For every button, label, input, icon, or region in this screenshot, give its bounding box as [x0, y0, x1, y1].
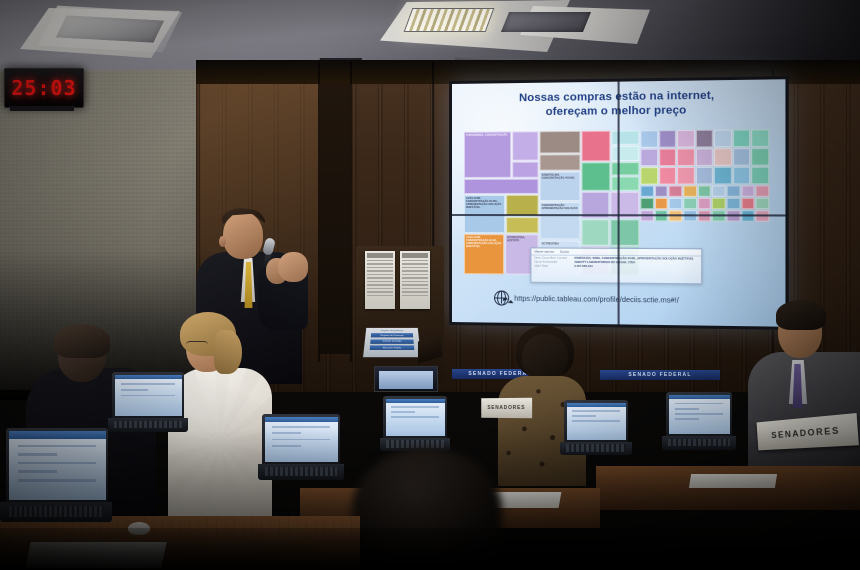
laptop-keyboard[interactable] [258, 464, 344, 480]
tooltip-keep-only[interactable]: Manter apenas [534, 249, 554, 253]
globe-meridian [497, 290, 506, 305]
nameplate-label: SENADORES [487, 405, 525, 411]
laptop-screen[interactable] [115, 375, 182, 416]
treemap-cell[interactable] [640, 149, 657, 166]
treemap-cell[interactable] [696, 148, 714, 166]
laptop-lid [666, 392, 732, 436]
treemap-cell[interactable] [581, 219, 609, 246]
treemap-cell[interactable]: ACICLOVIR, CONCENTRAÇÃO 40 ML, APRESENTA… [464, 234, 504, 275]
lectern-screen-title: Registro de presença [369, 330, 416, 332]
treemap-cell[interactable] [655, 186, 668, 197]
treemap-cell[interactable]: FUROSEMIDA, CONCENTRAÇÃO [464, 131, 511, 177]
laptop-lid [564, 400, 628, 442]
laptop-4[interactable] [380, 396, 450, 454]
treemap-cell[interactable] [659, 149, 676, 167]
lectern-documents [365, 251, 430, 309]
treemap-cell[interactable] [733, 148, 751, 166]
tooltip-exclude[interactable]: Excluir [560, 250, 569, 254]
treemap-cell[interactable] [610, 219, 639, 246]
fluorescent-fixture-icon [404, 8, 495, 32]
glasses-icon [186, 341, 208, 349]
treemap-cell[interactable] [741, 185, 755, 196]
treemap-cell[interactable] [727, 185, 740, 196]
treemap-cell[interactable] [640, 198, 653, 209]
treemap-cell[interactable] [698, 198, 711, 209]
treemap-cell[interactable]: CONCENTRAÇÃO APRESENTAÇÃO SOLUÇÃO [540, 202, 581, 240]
treemap-cell[interactable] [512, 131, 539, 161]
treemap-cell[interactable] [727, 198, 740, 209]
treemap-group-purple: FUROSEMIDA, CONCENTRAÇÃO ACICLOVIR, CONC… [464, 131, 539, 274]
treemap-cell[interactable] [659, 167, 676, 184]
laptop-screen[interactable] [386, 399, 445, 436]
slide-source-url[interactable]: https://public.tableau.com/profile/decii… [494, 290, 679, 307]
treemap-cell[interactable] [712, 198, 725, 209]
treemap-cell[interactable] [756, 198, 770, 209]
lectern-monitor [374, 366, 438, 392]
treemap-cell[interactable] [669, 198, 682, 209]
attendee-gray-suit-hair [776, 300, 826, 330]
slide-canvas: Nossas compras estão na internet, ofereç… [452, 79, 785, 327]
treemap-cell[interactable] [464, 179, 539, 194]
lectern-keyboard[interactable] [418, 335, 442, 364]
treemap-cell[interactable] [512, 162, 539, 178]
treemap-cell[interactable] [683, 198, 696, 209]
treemap-cell-label: OCTREOTIDA, ACETATO [507, 236, 537, 242]
treemap-cell[interactable] [655, 198, 668, 209]
treemap-cell[interactable] [714, 148, 732, 166]
treemap-cell[interactable] [659, 130, 676, 148]
treemap-cell[interactable] [714, 130, 732, 148]
treemap-cell[interactable] [696, 167, 714, 185]
treemap-cell-label: OCTREOTIDA [542, 243, 579, 246]
treemap-cell[interactable] [752, 167, 770, 185]
treemap-cell[interactable] [741, 198, 755, 209]
countdown-timer-value: 25:03 [11, 76, 76, 100]
laptop-3[interactable] [258, 414, 344, 482]
treemap-cell[interactable] [714, 167, 732, 185]
laptop-lid [262, 414, 340, 464]
lectern-button-presence[interactable]: Registro de Presença [371, 333, 413, 337]
treemap-cell[interactable] [640, 130, 657, 148]
treemap-cell[interactable]: SOMATOLINA, CONCENTRAÇÃO 400 MG [540, 172, 581, 201]
treemap-cell-label: CONCENTRAÇÃO APRESENTAÇÃO SOLUÇÃO [542, 204, 579, 210]
ceiling-vent-2 [501, 12, 591, 32]
treemap-cell[interactable] [611, 162, 639, 175]
attendee-leopard-head [522, 334, 568, 382]
laptop-lid [112, 372, 184, 418]
treemap-cell-label: ACICLOVIR, CONCENTRAÇÃO 40 MG, APRESENTA… [466, 196, 503, 209]
treemap-cell[interactable] [683, 186, 696, 197]
treemap-cell[interactable] [696, 130, 714, 148]
senado-federal-label: SENADO FEDERAL [628, 372, 691, 378]
agenda-sheet-left [365, 251, 395, 309]
countdown-timer: 25:03 [4, 68, 84, 108]
attendee-blonde-hair-back [214, 330, 242, 374]
foreground-shadow [0, 528, 860, 570]
clock-mount [10, 106, 74, 111]
treemap-cell-label: ACICLOVIR, CONCENTRAÇÃO 40 ML, APRESENTA… [466, 236, 502, 249]
desk-row-back [596, 466, 860, 510]
nameplate-label: SENADORES [771, 425, 840, 440]
laptop-screen[interactable] [9, 431, 106, 500]
treemap-cell[interactable] [540, 131, 581, 154]
lectern-touchscreen[interactable]: Registro de presença Registro de Presenç… [362, 327, 422, 358]
treemap-cell[interactable] [677, 148, 694, 166]
lectern-button-remove[interactable]: Remover Pedido [370, 346, 415, 351]
paper-sheet [689, 474, 777, 488]
treemap-cell[interactable] [733, 167, 751, 185]
treemap-cell[interactable] [640, 186, 653, 197]
videowall-seam-vertical [617, 82, 619, 325]
globe-icon [494, 290, 509, 305]
lectern-button-request[interactable]: Solicitar Inscrição [370, 339, 414, 343]
treemap-cell-label: SOMATOLINA, CONCENTRAÇÃO 400 MG [542, 174, 579, 181]
treemap-cell[interactable] [712, 185, 725, 196]
laptop-6[interactable] [662, 392, 736, 452]
doorway [320, 84, 350, 354]
treemap-cell[interactable] [756, 185, 770, 196]
treemap-cell[interactable] [677, 167, 694, 185]
panel-seam [350, 62, 352, 362]
tooltip-key: Valor Total [534, 264, 571, 268]
panel-seam [318, 62, 320, 362]
treemap-cell[interactable] [752, 148, 770, 166]
treemap-mosaic-top [640, 129, 769, 184]
laptop-screen[interactable] [669, 395, 730, 434]
laptop-lid [6, 428, 108, 502]
treemap-cell[interactable] [581, 162, 610, 191]
treemap-cell[interactable] [752, 129, 770, 147]
lectern[interactable]: Registro de presença Registro de Presenç… [356, 246, 444, 382]
ceiling-vent-1 [56, 15, 164, 42]
laptop-screen[interactable] [567, 403, 626, 440]
laptop-keyboard[interactable] [0, 502, 112, 522]
treemap-cell[interactable] [540, 155, 581, 171]
treemap-cell[interactable] [677, 130, 694, 148]
treemap-cell[interactable] [640, 167, 657, 184]
laptop-2[interactable] [108, 372, 188, 434]
attendee-dark-suit-hair [54, 324, 110, 358]
senado-federal-band: SENADO FEDERAL [600, 370, 720, 380]
speaker-head [223, 212, 263, 259]
speaker-hand-right [278, 252, 308, 282]
treemap-mosaic-bottom [640, 185, 769, 221]
speaker-ear [219, 236, 226, 247]
treemap-cell[interactable] [611, 146, 639, 161]
tooltip-value: 2.057.652,344 [574, 264, 592, 268]
laptop-keyboard[interactable] [108, 418, 188, 432]
treemap-cell[interactable] [669, 186, 682, 197]
treemap-cell[interactable] [733, 129, 751, 147]
video-wall-display[interactable]: Nossas compras estão na internet, ofereç… [452, 79, 785, 327]
meeting-room-photo: 25:03 Nossas compras estão na internet, … [0, 0, 860, 570]
laptop-keyboard[interactable] [560, 442, 632, 455]
nameplate-senadores-small: SENADORES [481, 398, 532, 419]
treemap-cell[interactable] [506, 217, 539, 233]
treemap-cell[interactable] [698, 185, 711, 196]
laptop-1[interactable] [0, 428, 112, 524]
laptop-screen[interactable] [265, 417, 338, 462]
laptop-lid [383, 396, 447, 438]
treemap-cell[interactable] [581, 131, 610, 162]
slide-url-text[interactable]: https://public.tableau.com/profile/decii… [514, 294, 679, 305]
laptop-5[interactable] [560, 400, 632, 458]
treemap-cell[interactable] [611, 130, 639, 145]
laptop-keyboard[interactable] [662, 436, 736, 450]
treemap-cell-label: FUROSEMIDA, CONCENTRAÇÃO [466, 134, 509, 138]
treemap-cell[interactable] [611, 176, 639, 190]
agenda-sheet-right [400, 251, 430, 309]
